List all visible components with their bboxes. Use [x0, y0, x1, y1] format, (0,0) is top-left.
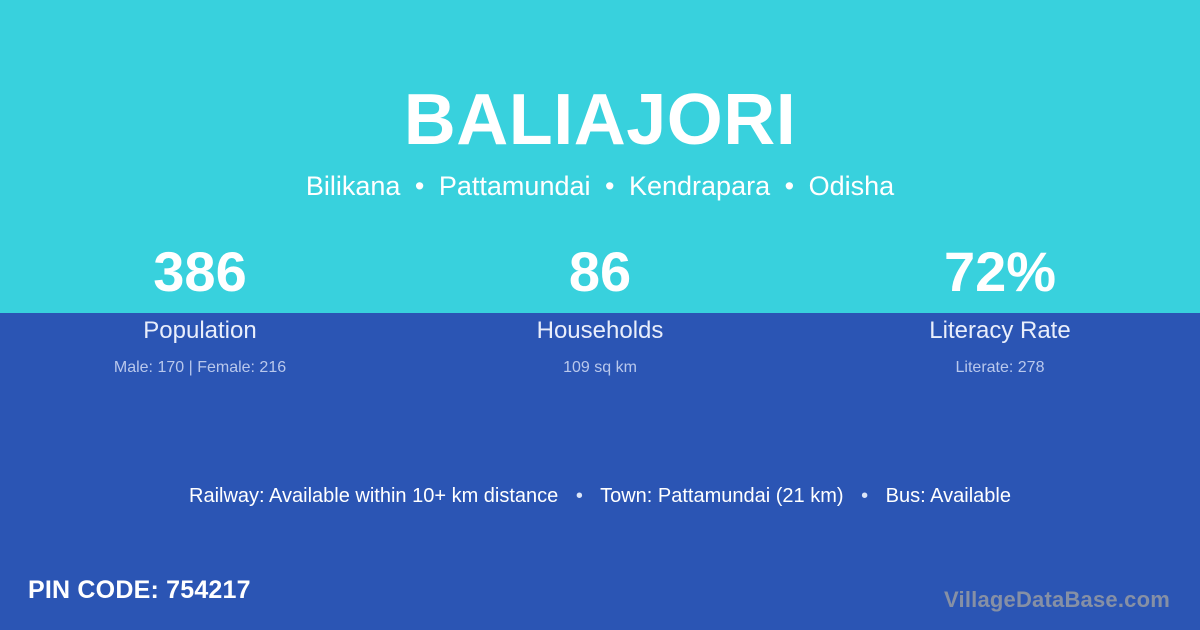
- breadcrumb-item-district: Kendrapara: [629, 171, 770, 201]
- facility-bus: Bus: Available: [886, 485, 1011, 507]
- breadcrumb-separator: •: [778, 172, 801, 202]
- breadcrumb-separator: •: [408, 172, 431, 202]
- facility-separator: •: [564, 483, 595, 509]
- stat-value: 86: [400, 240, 800, 312]
- stat-sublabel: Male: 170 | Female: 216: [0, 346, 400, 379]
- stats-row: 386 Population Male: 170 | Female: 216 8…: [0, 240, 1200, 379]
- breadcrumb-separator: •: [598, 172, 621, 202]
- breadcrumb-item-state: Odisha: [809, 171, 895, 201]
- stat-value: 72%: [800, 240, 1200, 312]
- header: BALIAJORI Bilikana • Pattamundai • Kendr…: [0, 0, 1200, 202]
- stat-label: Households: [400, 312, 800, 346]
- facility-railway: Railway: Available within 10+ km distanc…: [189, 485, 558, 507]
- facilities-line: Railway: Available within 10+ km distanc…: [0, 483, 1200, 509]
- stat-label: Population: [0, 312, 400, 346]
- facility-town: Town: Pattamundai (21 km): [600, 485, 843, 507]
- stat-households: 86 Households 109 sq km: [400, 240, 800, 379]
- stat-literacy-rate: 72% Literacy Rate Literate: 278: [800, 240, 1200, 379]
- pin-code: PIN CODE: 754217: [28, 574, 251, 606]
- village-info-card: BALIAJORI Bilikana • Pattamundai • Kendr…: [0, 0, 1200, 630]
- stat-sublabel: Literate: 278: [800, 346, 1200, 379]
- breadcrumb: Bilikana • Pattamundai • Kendrapara • Od…: [0, 156, 1200, 202]
- breadcrumb-item-block: Pattamundai: [439, 171, 591, 201]
- stat-population: 386 Population Male: 170 | Female: 216: [0, 240, 400, 379]
- site-watermark: VillageDataBase.com: [944, 586, 1170, 614]
- breadcrumb-item-gram-panchayat: Bilikana: [306, 171, 401, 201]
- stat-value: 386: [0, 240, 400, 312]
- stat-label: Literacy Rate: [800, 312, 1200, 346]
- stat-sublabel: 109 sq km: [400, 346, 800, 379]
- facility-separator: •: [849, 483, 880, 509]
- page-title: BALIAJORI: [0, 0, 1200, 156]
